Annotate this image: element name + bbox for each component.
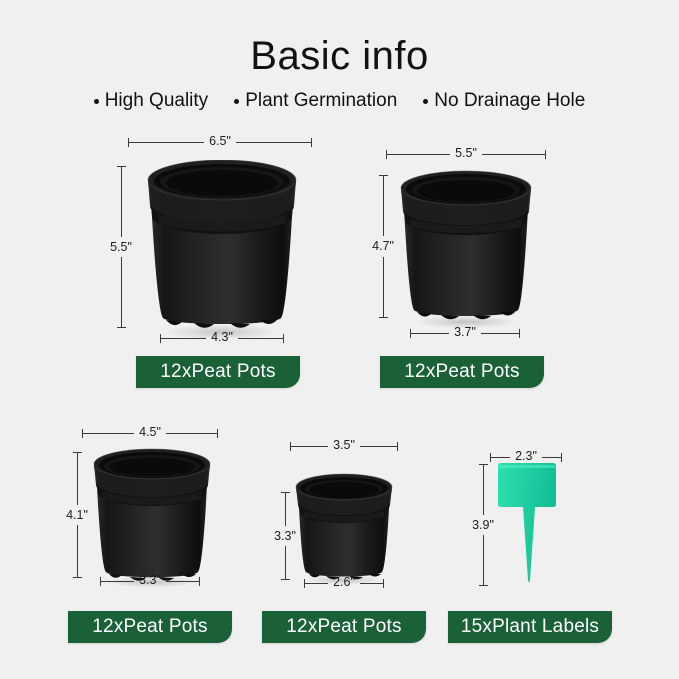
dimension-value: 6.5"	[204, 135, 236, 148]
dimension-line	[383, 176, 384, 236]
dimension-value: 2.6"	[328, 576, 360, 589]
dimension-value: 3.5"	[328, 439, 360, 452]
bullet-dot-icon	[234, 99, 239, 104]
banner-pot-6-5: 12xPeat Pots	[136, 356, 300, 388]
dimension-line	[291, 446, 328, 447]
dimension-line	[383, 257, 384, 317]
dimension-line	[101, 581, 134, 582]
dimension-line	[77, 525, 78, 577]
dimension-line	[387, 154, 450, 155]
dimension-value: 3.9"	[472, 515, 494, 536]
dimension-cap	[217, 429, 218, 438]
dimension-bottom-pot-3-5: 2.6"	[304, 575, 384, 591]
dimension-line	[121, 167, 122, 237]
dimension-cap	[545, 150, 546, 159]
dimension-line	[285, 493, 286, 526]
dimension-line	[77, 453, 78, 505]
dimension-cap	[283, 334, 284, 343]
dimension-line	[161, 338, 206, 339]
banner-label: 12xPeat Pots	[92, 616, 207, 638]
infographic-page: Basic info High Quality Plant Germinatio…	[0, 0, 679, 679]
dimension-line	[483, 465, 484, 515]
banner-pot-3-5: 12xPeat Pots	[262, 611, 426, 643]
dimension-line	[236, 142, 311, 143]
banner-label: 12xPeat Pots	[160, 361, 275, 383]
dimension-cap	[479, 585, 488, 586]
dimension-line	[491, 457, 510, 458]
dimension-bottom-pot-6-5: 4.3"	[160, 330, 284, 346]
bullet-dot-icon	[423, 99, 428, 104]
dimension-line	[542, 457, 561, 458]
dimension-value: 5.5"	[450, 147, 482, 160]
dimension-bottom-pot-5-5: 3.7"	[410, 325, 520, 341]
dimension-value: 2.3"	[510, 450, 542, 463]
dimension-cap	[519, 329, 520, 338]
dimension-line	[305, 583, 328, 584]
feature-bullet-no-drainage-hole: No Drainage Hole	[423, 90, 585, 112]
pot-image-5-5	[390, 170, 542, 328]
dimension-top-pot-3-5: 3.5"	[290, 438, 398, 454]
dimension-line	[360, 446, 397, 447]
dimension-height-pot-6-5: 5.5"	[104, 166, 138, 328]
banner-plant-label: 15xPlant Labels	[448, 611, 612, 643]
dimension-value: 5.5"	[110, 237, 132, 258]
dimension-value: 3.3"	[134, 574, 166, 587]
dimension-line	[285, 546, 286, 579]
dimension-value: 4.3"	[206, 331, 238, 344]
dimension-bottom-pot-4-5: 3.3"	[100, 573, 200, 589]
dimension-line	[238, 338, 283, 339]
dimension-cap	[561, 453, 562, 462]
dimension-cap	[383, 579, 384, 588]
dimension-cap	[311, 138, 312, 147]
dimension-line	[411, 333, 449, 334]
dimension-value: 4.5"	[134, 426, 166, 439]
dimension-line	[481, 333, 519, 334]
dimension-cap	[117, 327, 126, 328]
dimension-cap	[199, 577, 200, 586]
feature-bullet-label: Plant Germination	[245, 90, 397, 112]
feature-bullet-list: High Quality Plant Germination No Draina…	[0, 90, 679, 112]
dimension-line	[482, 154, 545, 155]
feature-bullet-high-quality: High Quality	[94, 90, 209, 112]
feature-bullet-label: High Quality	[105, 90, 209, 112]
pot-image-6-5	[136, 160, 308, 338]
plant-label-image	[492, 462, 562, 586]
feature-bullet-label: No Drainage Hole	[434, 90, 585, 112]
dimension-top-pot-4-5: 4.5"	[82, 425, 218, 441]
dimension-line	[483, 535, 484, 585]
banner-pot-5-5: 12xPeat Pots	[380, 356, 544, 388]
dimension-cap	[397, 442, 398, 451]
banner-pot-4-5: 12xPeat Pots	[68, 611, 232, 643]
dimension-line	[166, 581, 199, 582]
bullet-dot-icon	[94, 99, 99, 104]
dimension-line	[121, 257, 122, 327]
feature-bullet-plant-germination: Plant Germination	[234, 90, 397, 112]
dimension-line	[83, 433, 134, 434]
dimension-top-pot-6-5: 6.5"	[128, 134, 312, 150]
dimension-line	[360, 583, 383, 584]
dimension-value: 3.7"	[449, 326, 481, 339]
dimension-top-pot-5-5: 5.5"	[386, 146, 546, 162]
pot-image-4-5	[84, 448, 220, 588]
banner-label: 12xPeat Pots	[404, 361, 519, 383]
page-title: Basic info	[0, 34, 679, 78]
pot-image-3-5	[288, 473, 400, 585]
banner-label: 15xPlant Labels	[461, 616, 599, 638]
dimension-line	[129, 142, 204, 143]
dimension-line	[166, 433, 217, 434]
dimension-cap	[73, 577, 82, 578]
dimension-cap	[379, 317, 388, 318]
banner-label: 12xPeat Pots	[286, 616, 401, 638]
